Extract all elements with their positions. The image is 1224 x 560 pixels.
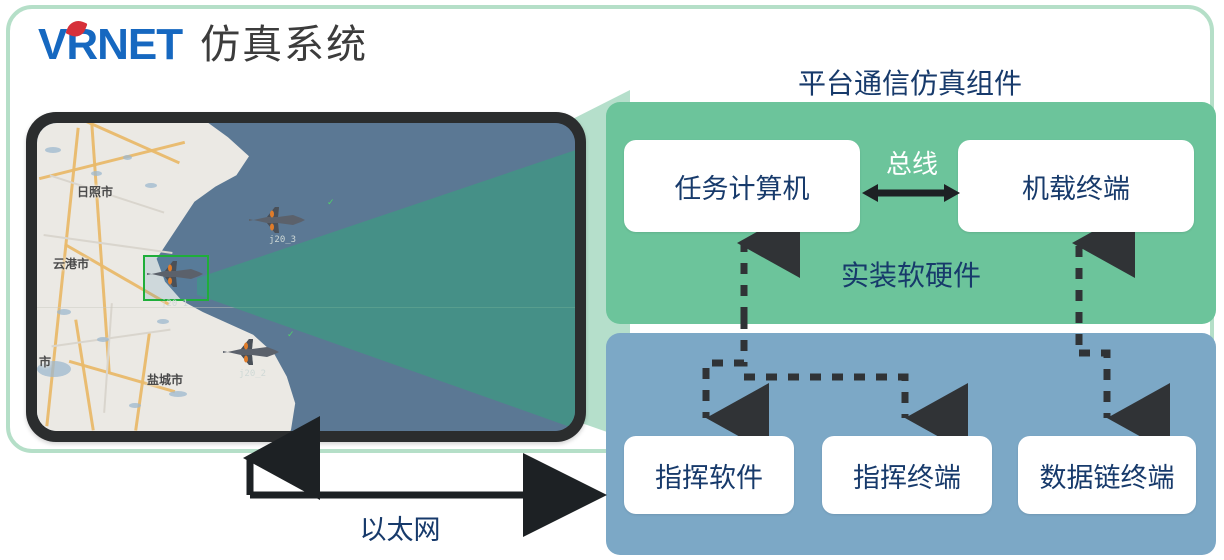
aircraft-label: j20_1 <box>161 299 188 309</box>
bus-label: 总线 <box>866 144 958 181</box>
aircraft-label: j20_2 <box>239 369 266 379</box>
map-water <box>145 183 157 188</box>
node-airborne-terminal[interactable]: 机载终端 <box>958 140 1194 232</box>
aircraft-marker[interactable] <box>245 203 309 237</box>
page-title: 仿真系统 <box>200 25 368 65</box>
ethernet-label: 以太网 <box>330 508 470 547</box>
map-water <box>157 319 169 324</box>
green-panel-subtitle: 实装软硬件 <box>606 254 1216 294</box>
aircraft-marker[interactable] <box>219 335 283 369</box>
map-water <box>169 391 187 397</box>
aircraft-label: j20_3 <box>269 235 296 245</box>
waypoint-marker-icon: ✓ <box>287 329 295 340</box>
map-water <box>45 147 61 153</box>
map-gridline <box>37 307 575 308</box>
map-water <box>97 337 109 342</box>
node-mission-computer[interactable]: 任务计算机 <box>624 140 860 232</box>
map-city-label: 市 <box>39 353 51 370</box>
node-command-software[interactable]: 指挥软件 <box>624 436 794 514</box>
map-water <box>123 155 132 160</box>
node-datalink-terminal[interactable]: 数据链终端 <box>1018 436 1196 514</box>
map-city-label: 日照市 <box>77 183 113 200</box>
map-city-label: 盐城市 <box>147 371 183 388</box>
aircraft-marker-selected[interactable] <box>143 257 207 291</box>
bus-double-arrow-icon <box>860 180 962 206</box>
node-command-terminal[interactable]: 指挥终端 <box>822 436 992 514</box>
app-header: VRNET 仿真系统 <box>38 18 368 72</box>
map-display-device[interactable]: 日照市 云港市 市 盐城市 j20_3 ✓ <box>26 112 586 442</box>
map-water <box>57 309 71 315</box>
map-city-label: 云港市 <box>53 255 89 272</box>
waypoint-marker-icon: ✓ <box>327 197 335 208</box>
map-water <box>91 171 102 176</box>
green-panel-title: 平台通信仿真组件 <box>608 62 1212 102</box>
map-screen[interactable]: 日照市 云港市 市 盐城市 j20_3 ✓ <box>37 123 575 431</box>
vrnet-logo: VRNET <box>38 23 182 67</box>
logo-text: VRNET <box>38 23 182 67</box>
map-water <box>129 403 141 408</box>
